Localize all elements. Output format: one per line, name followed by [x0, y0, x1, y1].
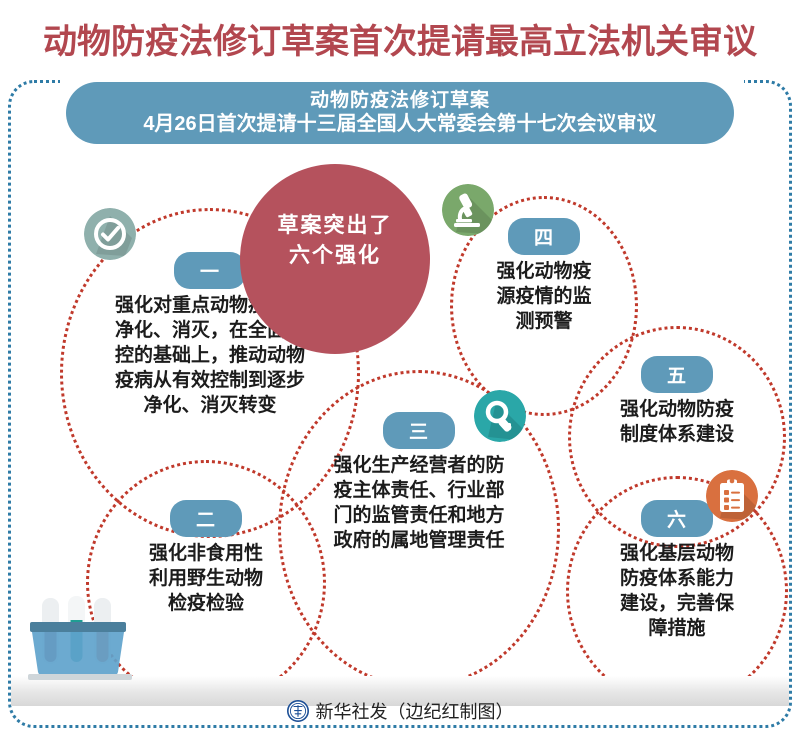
microscope-icon [442, 184, 494, 236]
test-tubes-icon [22, 594, 138, 684]
clipboard-icon [706, 470, 758, 522]
subtitle-banner: 动物防疫法修订草案 4月26日首次提请十三届全国人大常委会第十七次会议审议 [66, 82, 734, 144]
credit-line: 新华社发（边纪红制图） [0, 698, 800, 724]
banner-line-2: 4月26日首次提请十三届全国人大常委会第十七次会议审议 [143, 112, 656, 137]
credit-text: 新华社发（边纪红制图） [316, 698, 514, 724]
bubble-number-4: 四 [508, 218, 580, 255]
bubble-text-4: 强化动物疫 源疫情的监 测预警 [496, 259, 591, 334]
bubble-number-3: 三 [383, 412, 455, 449]
center-highlight-blob: 草案突出了 六个强化 [240, 164, 430, 354]
page-title: 动物防疫法修订草案首次提请最高立法机关审议 [0, 14, 800, 63]
bubble-number-2: 二 [170, 500, 242, 537]
bubble-number-5: 五 [641, 356, 713, 393]
bubble-text-2: 强化非食用性 利用野生动物 检疫检验 [149, 541, 263, 616]
bubble-text-6: 强化基层动物 防疫体系能力 建设，完善保 障措施 [620, 541, 734, 641]
bubble-content-5: 五 强化动物防疫 制度体系建设 [568, 356, 786, 447]
xinhua-logo-icon [287, 700, 309, 722]
infographic-canvas: 动物防疫法修订草案首次提请最高立法机关审议 动物防疫法修订草案 4月26日首次提… [0, 0, 800, 744]
bubble-text-5: 强化动物防疫 制度体系建设 [620, 397, 734, 447]
bubble-number-1: 一 [174, 252, 246, 289]
bubble-text-3: 强化生产经营者的防 疫主体责任、行业部 门的监管责任和地方 政府的属地管理责任 [333, 453, 504, 553]
check-circle-icon [84, 208, 136, 260]
center-highlight-text: 草案突出了 六个强化 [240, 210, 430, 270]
bubble-number-6: 六 [641, 500, 713, 537]
magnifier-icon [474, 390, 526, 442]
banner-line-1: 动物防疫法修订草案 [310, 89, 490, 112]
